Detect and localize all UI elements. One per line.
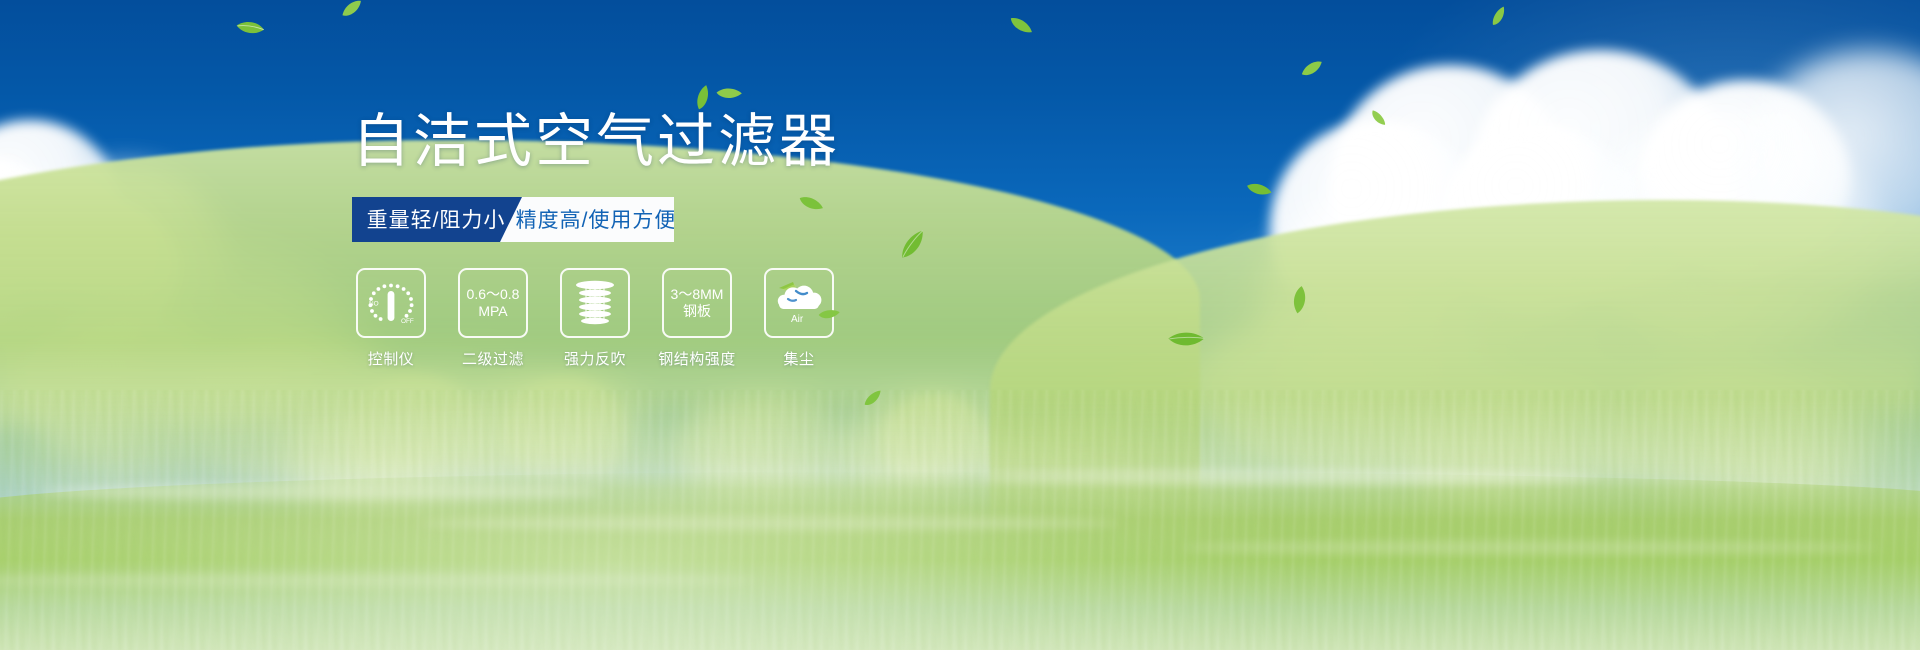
feature-item-two-stage-filtration: 0.6～0.8 MPA 二级过滤 bbox=[454, 268, 532, 369]
feature-box: 0.6～0.8 MPA bbox=[458, 268, 528, 338]
hero-text-block: 自洁式空气过滤器 重量轻/阻力小 精度高/使用方便 bbox=[352, 110, 972, 242]
dial-off-label: OFF bbox=[401, 318, 414, 325]
tag-primary: 重量轻/阻力小 bbox=[352, 197, 530, 242]
feature-item-dust-collection: Air 集尘 bbox=[760, 268, 838, 369]
feature-box: NO OFF bbox=[356, 268, 426, 338]
feature-box: 3～8MM 钢板 bbox=[662, 268, 732, 338]
feature-caption: 集尘 bbox=[783, 348, 814, 369]
dial-on-label: NO bbox=[369, 301, 379, 308]
filter-cartridge-icon bbox=[571, 278, 619, 328]
feature-caption: 控制仪 bbox=[368, 348, 415, 369]
feature-caption: 钢结构强度 bbox=[658, 348, 736, 369]
pressure-value-line2: MPA bbox=[478, 303, 507, 321]
tag-secondary: 精度高/使用方便 bbox=[500, 197, 674, 242]
tag-primary-label: 重量轻/阻力小 bbox=[367, 204, 506, 234]
tag-secondary-label: 精度高/使用方便 bbox=[516, 204, 677, 234]
steel-value-line2: 钢板 bbox=[683, 303, 711, 321]
feature-list: NO OFF 控制仪 0.6～0.8 MPA 二级过滤 bbox=[352, 268, 838, 369]
control-dial-icon: NO OFF bbox=[365, 278, 417, 328]
feature-item-steel-structure-strength: 3～8MM 钢板 钢结构强度 bbox=[658, 268, 736, 369]
dust-cloud-icon: Air bbox=[771, 280, 827, 326]
product-hero-banner: 自洁式空气过滤器 重量轻/阻力小 精度高/使用方便 bbox=[0, 0, 1920, 650]
feature-item-control-instrument: NO OFF 控制仪 bbox=[352, 268, 430, 369]
pressure-value-line1: 0.6～0.8 bbox=[467, 286, 520, 304]
feature-box bbox=[560, 268, 630, 338]
page-title: 自洁式空气过滤器 bbox=[352, 110, 972, 175]
feature-caption: 强力反吹 bbox=[564, 348, 626, 369]
steel-value-line1: 3～8MM bbox=[671, 286, 724, 304]
feature-box: Air bbox=[764, 268, 834, 338]
air-label: Air bbox=[791, 314, 804, 325]
feature-caption: 二级过滤 bbox=[462, 348, 524, 369]
grass-foreground bbox=[0, 471, 1920, 650]
tag-strip: 重量轻/阻力小 精度高/使用方便 bbox=[352, 197, 674, 242]
feature-item-strong-backblow: 强力反吹 bbox=[556, 268, 634, 369]
